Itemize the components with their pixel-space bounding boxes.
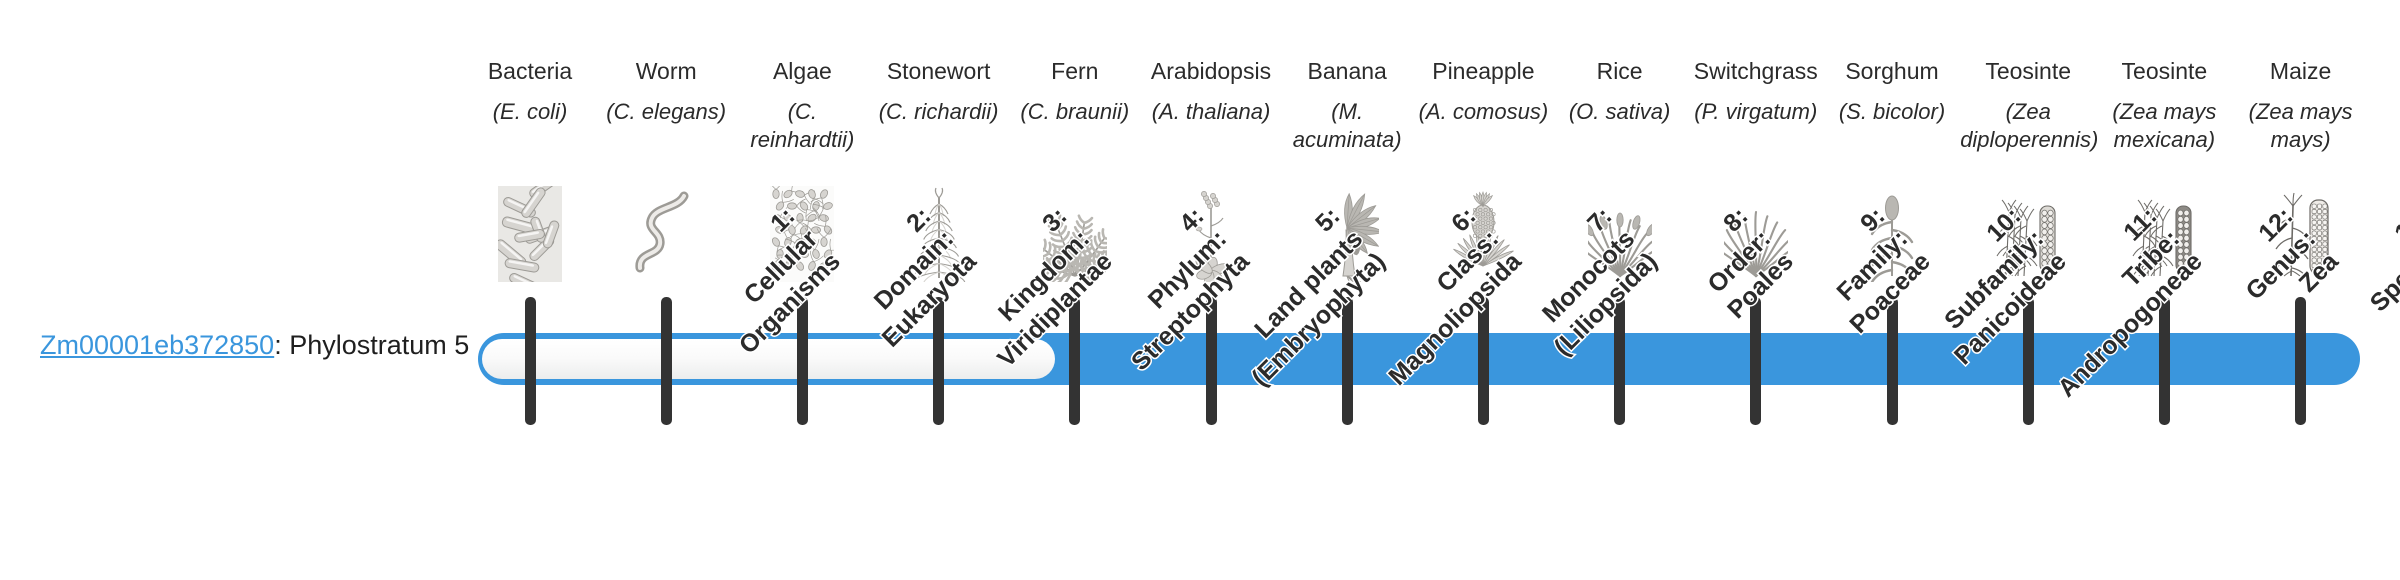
species-latin-name: (O. sativa) bbox=[1552, 98, 1688, 126]
species-column-algae-3: Algae(C. reinhardtii) bbox=[734, 56, 870, 154]
species-latin-name: (P. virgatum) bbox=[1688, 98, 1824, 126]
species-common-name: Teosinte bbox=[2096, 56, 2232, 86]
gene-phylostratum-label: Zm00001eb372850: Phylostratum 5 bbox=[40, 330, 469, 361]
species-common-name: Stonewort bbox=[871, 56, 1007, 86]
species-column-maize-14: Maize(Zea mays mays) bbox=[2233, 56, 2369, 154]
species-latin-name: (C. elegans) bbox=[598, 98, 734, 126]
species-common-name: Maize bbox=[2233, 56, 2369, 86]
species-latin-name: (Zea mays mays) bbox=[2233, 98, 2369, 154]
species-column-rice-9: Rice(O. sativa) bbox=[1552, 56, 1688, 126]
species-latin-name: (E. coli) bbox=[462, 98, 598, 126]
species-common-name: Sorghum bbox=[1824, 56, 1960, 86]
species-common-name: Rice bbox=[1552, 56, 1688, 86]
species-column-stonewort-4: Stonewort(C. richardii) bbox=[871, 56, 1007, 126]
species-column-teosinte-12: Teosinte(Zea diploperennis) bbox=[1960, 56, 2096, 154]
species-latin-name: (C. reinhardtii) bbox=[734, 98, 870, 154]
species-latin-name: (Zea mays mexicana) bbox=[2096, 98, 2232, 154]
species-column-banana-7: Banana(M. acuminata) bbox=[1279, 56, 1415, 154]
species-common-name: Bacteria bbox=[462, 56, 598, 86]
bacteria-illustration bbox=[462, 172, 598, 282]
species-column-arabidopsis-6: Arabidopsis(A. thaliana) bbox=[1143, 56, 1279, 126]
species-column-pineapple-8: Pineapple(A. comosus) bbox=[1415, 56, 1551, 126]
species-latin-name: (C. richardii) bbox=[871, 98, 1007, 126]
species-latin-name: (M. acuminata) bbox=[1279, 98, 1415, 154]
species-common-name: Pineapple bbox=[1415, 56, 1551, 86]
species-latin-name: (C. braunii) bbox=[1007, 98, 1143, 126]
species-column-switchgrass-10: Switchgrass(P. virgatum) bbox=[1688, 56, 1824, 126]
species-latin-name: (Zea diploperennis) bbox=[1960, 98, 2096, 154]
species-common-name: Teosinte bbox=[1960, 56, 2096, 86]
gene-accession-link[interactable]: Zm00001eb372850 bbox=[40, 330, 274, 360]
species-column-teosinte-13: Teosinte(Zea mays mexicana) bbox=[2096, 56, 2232, 154]
species-common-name: Switchgrass bbox=[1688, 56, 1824, 86]
species-column-bacteria-1: Bacteria(E. coli) bbox=[462, 56, 598, 126]
phylostratum-value: Phylostratum 5 bbox=[289, 330, 469, 360]
species-latin-name: (S. bicolor) bbox=[1824, 98, 1960, 126]
phylostratigraphy-track-figure: Zm00001eb372850: Phylostratum 5 Bacteria… bbox=[0, 0, 2400, 580]
species-common-name: Banana bbox=[1279, 56, 1415, 86]
species-common-name: Worm bbox=[598, 56, 734, 86]
species-common-name: Algae bbox=[734, 56, 870, 86]
species-latin-name: (A. thaliana) bbox=[1143, 98, 1279, 126]
tick-mark-1 bbox=[525, 297, 536, 425]
species-common-name: Arabidopsis bbox=[1143, 56, 1279, 86]
species-latin-name: (A. comosus) bbox=[1415, 98, 1551, 126]
gene-label-separator: : bbox=[274, 330, 289, 360]
species-column-worm-2: Worm(C. elegans) bbox=[598, 56, 734, 126]
species-column-fern-5: Fern(C. braunii) bbox=[1007, 56, 1143, 126]
species-column-sorghum-11: Sorghum(S. bicolor) bbox=[1824, 56, 1960, 126]
species-common-name: Fern bbox=[1007, 56, 1143, 86]
